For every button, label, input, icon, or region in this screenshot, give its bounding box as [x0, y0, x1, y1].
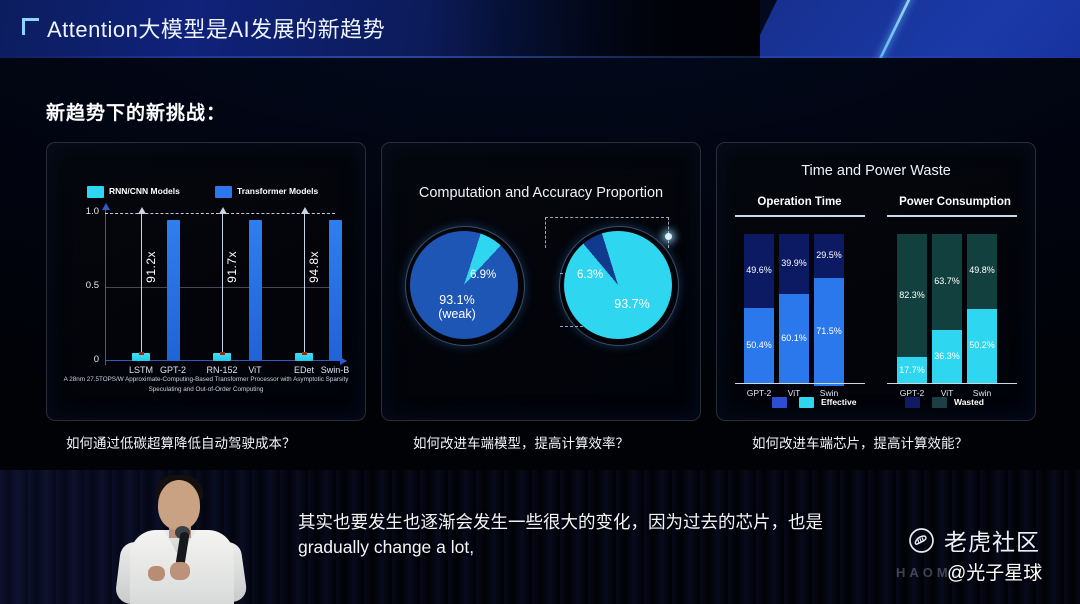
- header-underline: [0, 56, 1080, 58]
- pie-label-computation-minor: 6.9%: [470, 269, 496, 281]
- legend-label-effective: Effective: [821, 397, 856, 407]
- chart3-baseline-power: [887, 383, 1017, 385]
- brand-logo-text: 老虎社区: [944, 523, 1040, 557]
- chart3-bar-power-consumption-vit: 63.7%36.3%: [932, 234, 962, 384]
- chart1-bar-vit: [249, 220, 262, 361]
- chart1-speedup-label-1: 91.7x: [225, 251, 239, 283]
- caption-row: 如何通过低碳超算降低自动驾驶成本？ 如何改进车端模型，提高计算效率？ 如何改进车…: [46, 432, 1036, 458]
- chart3-segment-wasted: 82.3%: [897, 234, 927, 357]
- chart-card-speedup: RNN/CNN Models Transformer Models 1.0 0.…: [46, 142, 366, 421]
- legend-swatch-rnncnn: [87, 186, 104, 198]
- pie-label-computation-major: 93.1%(weak): [424, 293, 490, 322]
- social-handle: @光子星球: [947, 558, 1042, 585]
- caption-chart1: 如何通过低碳超算降低自动驾驶成本？: [66, 432, 296, 452]
- subtitle-line-1: 其实也要发生也逐渐会发生一些很大的变化，因为过去的芯片，也是: [298, 510, 898, 535]
- legend-label-rnncnn: RNN/CNN Models: [109, 186, 180, 196]
- chart3-bar-operation-time-vit: 39.9%60.1%: [779, 234, 809, 384]
- legend-swatch-effective-a: [772, 397, 787, 408]
- chart1-speedup-arrow-0: [141, 213, 142, 353]
- chart1-bar-gpt-2: [167, 220, 180, 361]
- chart1-ytick-05: 0.5: [86, 280, 99, 291]
- legend-swatch-effective-b: [799, 397, 814, 408]
- slide-header: Attention大模型是AI发展的新趋势: [0, 0, 1080, 58]
- chart1-speedup-arrow-1: [222, 213, 223, 353]
- chart1-xlabel-gpt-2: GPT-2: [149, 365, 197, 375]
- chart3-bar-operation-time-gpt-2: 49.6%50.4%: [744, 234, 774, 384]
- chart3-bar-power-consumption-gpt-2: 82.3%17.7%: [897, 234, 927, 384]
- speaker-figure: [112, 470, 262, 604]
- chart-card-waste: Time and Power Waste Operation Time Powe…: [716, 142, 1036, 421]
- chart3-segment-effective: 17.7%: [897, 357, 927, 384]
- legend-label-transformer: Transformer Models: [237, 186, 318, 196]
- chart1-bar-swin-b: [329, 220, 342, 361]
- chart3-bar-power-consumption-swin: 49.8%50.2%: [967, 234, 997, 384]
- subtitle-overlay: 其实也要发生也逐渐会发生一些很大的变化，因为过去的芯片，也是 gradually…: [298, 510, 898, 561]
- chart3-segment-wasted: 63.7%: [932, 234, 962, 330]
- brand-logo: 老虎社区: [908, 523, 1040, 557]
- legend-swatch-wasted-b: [932, 397, 947, 408]
- chart1-ytick-0: 0: [94, 354, 99, 365]
- chart1-speedup-arrow-2: [304, 213, 305, 353]
- speaker-hand-right: [170, 562, 190, 580]
- pie-accuracy: 6.3% 93.7% Accuracy: [564, 231, 672, 339]
- chart1-legend: RNN/CNN Models Transformer Models: [87, 185, 327, 201]
- subtitle-line-2: gradually change a lot,: [298, 535, 898, 560]
- header-diagonal-accent: [733, 0, 1080, 58]
- chart1-plot-area: 1.0 0.5 0 LSTMGPT-2RN-152ViTEDetSwin-B91…: [105, 213, 335, 361]
- tiger-circle-icon: [908, 527, 935, 554]
- speaker-hand-left: [148, 566, 165, 581]
- chart3-baseline-time: [735, 383, 865, 385]
- section-subheading: 新趋势下的新挑战：: [46, 98, 226, 125]
- chart3-segment-effective: 60.1%: [779, 294, 809, 384]
- chart3-segment-effective: 50.2%: [967, 309, 997, 384]
- caption-chart2: 如何改进车端模型，提高计算效率？: [413, 432, 629, 452]
- pie-slices-accuracy: [564, 231, 672, 339]
- chart-card-proportion: Computation and Accuracy Proportion 6.9%…: [381, 142, 701, 421]
- chart1-speedup-label-2: 94.8x: [307, 251, 321, 283]
- caption-chart3: 如何改进车端芯片，提高计算效能？: [752, 432, 968, 452]
- chart3-segment-effective: 50.4%: [744, 308, 774, 384]
- chart-card-row: RNN/CNN Models Transformer Models 1.0 0.…: [46, 142, 1036, 419]
- chart3-segment-effective: 36.3%: [932, 330, 962, 384]
- presentation-slide: Attention大模型是AI发展的新趋势 新趋势下的新挑战： RNN/CNN …: [0, 0, 1080, 470]
- chart1-xlabel-vit: ViT: [231, 365, 279, 375]
- chart2-title: Computation and Accuracy Proportion: [382, 185, 700, 201]
- chart3-segment-wasted: 29.5%: [814, 234, 844, 278]
- header-fade-overlay: [430, 0, 760, 58]
- chart1-speedup-label-0: 91.2x: [144, 251, 158, 283]
- corner-bracket-icon: [22, 18, 39, 35]
- chart3-segment-wasted: 49.8%: [967, 234, 997, 309]
- chart1-gridline-mid: [105, 287, 335, 288]
- chart3-bar-operation-time-swin: 29.5%71.5%: [814, 234, 844, 384]
- legend-swatch-wasted-a: [905, 397, 920, 408]
- page-title: Attention大模型是AI发展的新趋势: [47, 12, 385, 44]
- pie-label-accuracy-major: 93.7%: [602, 297, 662, 311]
- chart1-ytick-1: 1.0: [86, 206, 99, 217]
- pie-slices-computation: [410, 231, 518, 339]
- screenshot-root: Attention大模型是AI发展的新趋势 新趋势下的新挑战： RNN/CNN …: [0, 0, 1080, 604]
- chart1-xlabel-swin-b: Swin-B: [311, 365, 359, 375]
- chart3-plot-area: 49.6%50.4%GPT-239.9%60.1%ViT29.5%71.5%Sw…: [717, 143, 1035, 420]
- speaker-head: [158, 480, 200, 530]
- chart3-segment-wasted: 49.6%: [744, 234, 774, 308]
- chart3-legend: Effective Wasted: [717, 397, 1035, 411]
- chart3-segment-wasted: 39.9%: [779, 234, 809, 294]
- legend-label-wasted: Wasted: [954, 397, 984, 407]
- pie-computation: 6.9% 93.1%(weak) Computation: [410, 231, 518, 339]
- chart3-segment-effective: 71.5%: [814, 278, 844, 385]
- legend-swatch-transformer: [215, 186, 232, 198]
- chart1-footnote: A 28nm 27.5TOPS/W Approximate-Computing-…: [61, 375, 351, 395]
- pie-label-accuracy-minor: 6.3%: [577, 269, 603, 281]
